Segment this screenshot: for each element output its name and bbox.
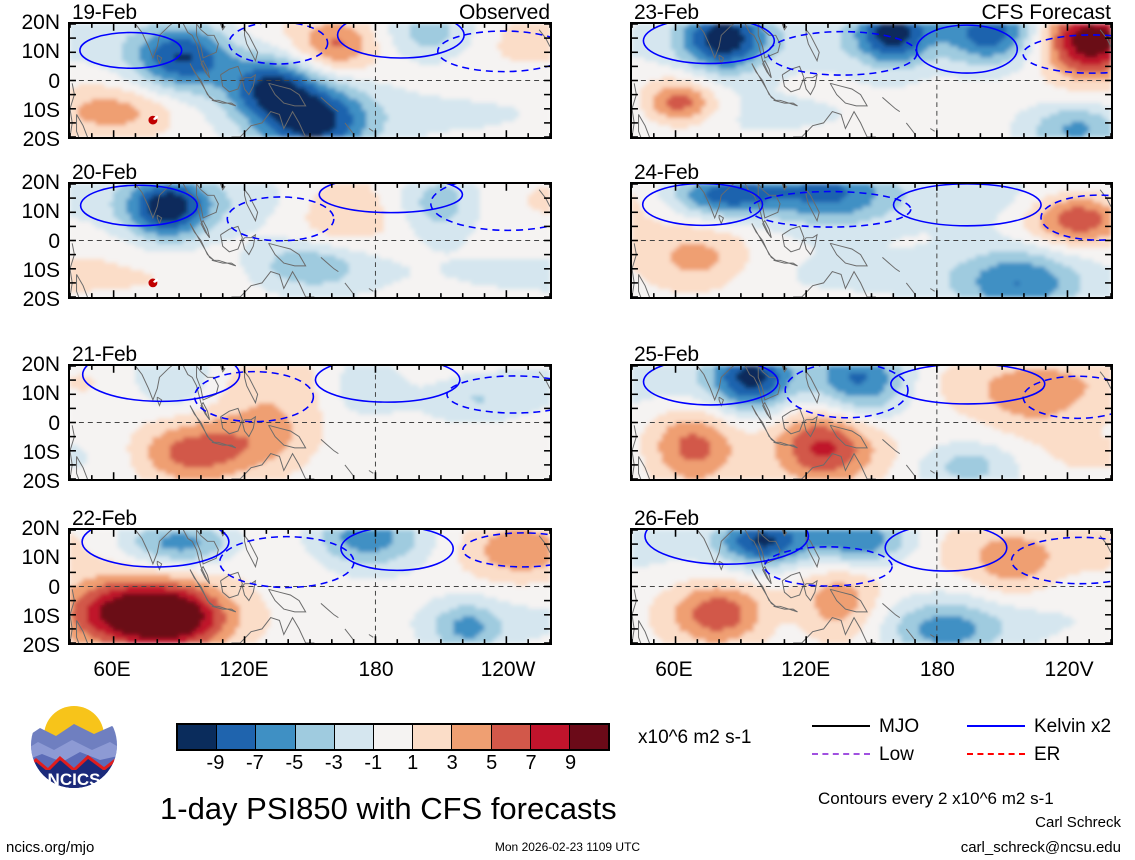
colorbar-units-label: x10^6 m2 s-1: [638, 728, 751, 747]
panel-date-22-feb: 22-Feb: [72, 508, 137, 529]
y-axis-label: 10N: [0, 41, 60, 62]
line-legend: MJO Kelvin x2 Low ER: [812, 712, 1122, 768]
legend-label-low: Low: [879, 745, 914, 764]
ncics-logo-icon: NCICS: [22, 700, 127, 790]
ncics-logo: NCICS: [22, 700, 127, 790]
figure-root: 19-FebObserved20N10N010S20S23-FebCFS For…: [0, 0, 1135, 860]
y-axis-label: 20S: [0, 129, 60, 150]
map-canvas: [70, 366, 550, 479]
y-axis-label: 10S: [0, 100, 60, 121]
map-canvas: [632, 530, 1111, 643]
x-axis-label-right: 180: [887, 659, 987, 680]
y-axis-label: 10N: [0, 201, 60, 222]
map-panel-22-feb: [68, 528, 552, 645]
mjo-line-icon: [812, 725, 870, 727]
map-canvas: [632, 366, 1111, 479]
colorbar-cell: [216, 725, 255, 749]
y-axis-label: 10S: [0, 260, 60, 281]
legend-label-er: ER: [1034, 745, 1060, 764]
y-axis-label: 0: [0, 231, 60, 252]
colorbar-cell: [530, 725, 569, 749]
y-axis-label: 20N: [0, 354, 60, 375]
x-axis-label-right: 120E: [756, 659, 856, 680]
y-axis-label: 0: [0, 577, 60, 598]
map-canvas: [632, 184, 1111, 297]
panel-date-24-feb: 24-Feb: [634, 162, 699, 183]
colorbar-tick-label: 1: [407, 753, 418, 773]
er-line-icon: [967, 753, 1025, 755]
column-label-cfs-forecast: CFS Forecast: [981, 2, 1111, 23]
panel-date-21-feb: 21-Feb: [72, 344, 137, 365]
panel-date-23-feb: 23-Feb: [634, 2, 699, 23]
colorbar-tick-label: -9: [207, 753, 225, 773]
y-axis-label: 10S: [0, 442, 60, 463]
map-panel-24-feb: [630, 182, 1113, 299]
legend-label-mjo: MJO: [879, 717, 919, 736]
map-panel-20-feb: [68, 182, 552, 299]
map-canvas: [70, 530, 550, 643]
panel-date-20-feb: 20-Feb: [72, 162, 137, 183]
column-label-observed: Observed: [459, 2, 550, 23]
y-axis-label: 20S: [0, 289, 60, 310]
colorbar-cell: [295, 725, 334, 749]
map-panel-19-feb: [68, 22, 552, 139]
colorbar-tick-label: -5: [285, 753, 303, 773]
y-axis-label: 20N: [0, 518, 60, 539]
y-axis-label: 20N: [0, 12, 60, 33]
colorbar-tick-label: -1: [364, 753, 382, 773]
main-title: 1-day PSI850 with CFS forecasts: [160, 793, 617, 824]
legend-label-kelvin: Kelvin x2: [1034, 717, 1111, 736]
y-axis-label: 20S: [0, 635, 60, 656]
low-line-icon: [812, 753, 870, 755]
legend-item-mjo: MJO: [812, 717, 967, 736]
colorbar-ticks: -9-7-5-3-113579: [176, 751, 610, 775]
y-axis-label: 10S: [0, 606, 60, 627]
legend-item-low: Low: [812, 745, 967, 764]
colorbar-cell: [569, 725, 608, 749]
colorbar-strip: [176, 723, 610, 751]
author-name: Carl Schreck: [1035, 815, 1121, 830]
legend-item-er: ER: [967, 745, 1122, 764]
colorbar-tick-label: -7: [246, 753, 264, 773]
colorbar-cell: [451, 725, 490, 749]
kelvin-line-icon: [967, 725, 1025, 727]
panel-date-26-feb: 26-Feb: [634, 508, 699, 529]
legend-row-1: MJO Kelvin x2: [812, 712, 1122, 740]
map-panel-26-feb: [630, 528, 1113, 645]
y-axis-label: 10N: [0, 547, 60, 568]
colorbar-cell: [334, 725, 373, 749]
x-axis-label-left: 180: [326, 659, 426, 680]
panel-date-25-feb: 25-Feb: [634, 344, 699, 365]
y-axis-label: 20N: [0, 172, 60, 193]
y-axis-label: 20S: [0, 471, 60, 492]
map-panel-23-feb: [630, 22, 1113, 139]
colorbar-cell: [491, 725, 530, 749]
logo-wordmark: NCICS: [48, 770, 101, 789]
y-axis-label: 0: [0, 71, 60, 92]
colorbar-cell: [373, 725, 412, 749]
panel-date-19-feb: 19-Feb: [72, 2, 137, 23]
timestamp: Mon 2026-02-23 1109 UTC: [0, 841, 1135, 853]
map-panel-25-feb: [630, 364, 1113, 481]
y-axis-label: 10N: [0, 383, 60, 404]
map-canvas: [70, 24, 550, 137]
y-axis-label: 0: [0, 413, 60, 434]
map-canvas: [70, 184, 550, 297]
contours-note: Contours every 2 x10^6 m2 s-1: [818, 790, 1054, 807]
colorbar-tick-label: 5: [486, 753, 497, 773]
colorbar-tick-label: 7: [526, 753, 537, 773]
x-axis-label-left: 60E: [62, 659, 162, 680]
x-axis-label-right: 60E: [624, 659, 724, 680]
colorbar-cell: [255, 725, 294, 749]
colorbar: -9-7-5-3-113579: [176, 723, 610, 775]
x-axis-label-right: 120V: [1019, 659, 1119, 680]
x-axis-label-left: 120E: [194, 659, 294, 680]
colorbar-tick-label: 9: [565, 753, 576, 773]
map-canvas: [632, 24, 1111, 137]
legend-item-kelvin: Kelvin x2: [967, 717, 1122, 736]
colorbar-tick-label: -3: [325, 753, 343, 773]
colorbar-tick-label: 3: [447, 753, 458, 773]
colorbar-cell: [178, 725, 216, 749]
legend-row-2: Low ER: [812, 740, 1122, 768]
x-axis-label-left: 120W: [458, 659, 558, 680]
map-panel-21-feb: [68, 364, 552, 481]
colorbar-cell: [412, 725, 451, 749]
